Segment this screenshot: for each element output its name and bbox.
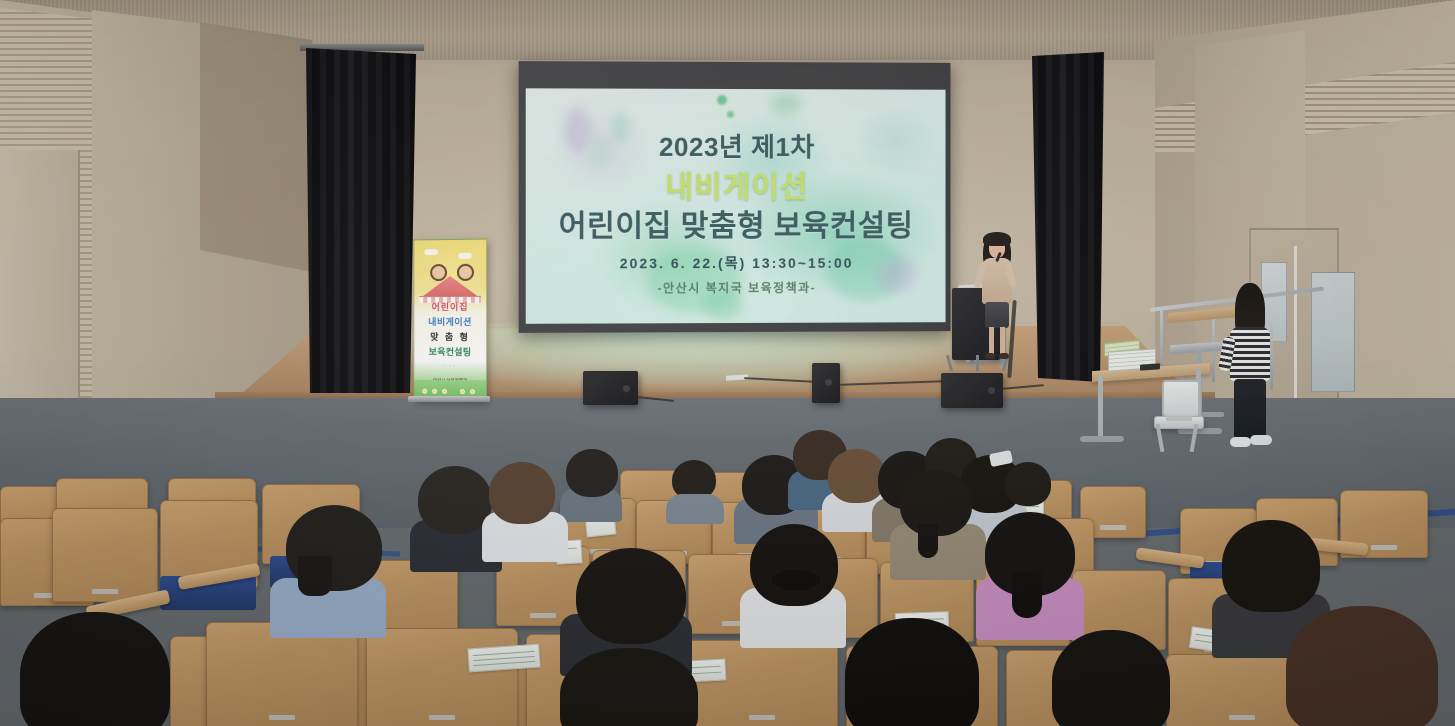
attendee-head-foreground	[1052, 630, 1170, 726]
banner-line-4: 보육컨설팅	[414, 347, 486, 358]
banner-line-1: 어린이집	[414, 302, 486, 312]
seat-empty	[52, 508, 158, 602]
banner-child-icon	[457, 264, 474, 281]
staff-shoe	[1250, 435, 1272, 445]
seat-front-row	[366, 628, 518, 726]
folding-chair	[1152, 380, 1204, 452]
attendee-shoulders	[666, 494, 724, 524]
slide-title-year: 2023년 제1차	[526, 127, 946, 165]
slide-content: 2023년 제1차 내비게이션 어린이집 맞춤형 보육컨설팅 2023. 6. …	[526, 88, 946, 324]
banner-child-icon	[430, 264, 447, 281]
attendee-head	[1222, 520, 1320, 612]
banner-line-3: 맞 춤 형	[414, 332, 486, 343]
left-side-door	[0, 150, 80, 430]
projection-screen-surface: 2023년 제1차 내비게이션 어린이집 맞춤형 보육컨설팅 2023. 6. …	[526, 88, 946, 324]
presenter-hair-front	[983, 232, 1011, 246]
presenter-skirt	[985, 302, 1009, 328]
slide-title-main: 내비게이션	[526, 162, 946, 206]
stage-curtain-right	[1032, 52, 1104, 382]
projection-screen-frame: 2023년 제1차 내비게이션 어린이집 맞춤형 보육컨설팅 2023. 6. …	[519, 61, 951, 333]
staff-shoe	[1230, 437, 1251, 447]
staff-striped-shirt	[1230, 327, 1270, 381]
attendee-head	[489, 462, 555, 524]
stage-speaker-center	[812, 363, 840, 403]
seat-front-row	[686, 640, 838, 726]
slide-datetime: 2023. 6. 22.(목) 13:30~15:00	[526, 253, 946, 274]
stage-curtain-left	[306, 48, 416, 393]
attendee-ponytail	[918, 524, 938, 558]
stage-speaker-right	[941, 373, 1003, 408]
attendee-ponytail	[1012, 572, 1042, 618]
attendee-head	[750, 524, 838, 606]
banner-base-foot	[408, 396, 490, 402]
attendee-head	[576, 548, 686, 644]
attendee-head-foreground	[20, 612, 170, 726]
hair-bow-icon	[778, 570, 814, 590]
banner-cloud-icon	[424, 249, 438, 255]
attendee-head-foreground	[560, 648, 698, 726]
slide-title-sub: 어린이집 맞춤형 보육컨설팅	[526, 201, 946, 245]
staff-pants	[1234, 379, 1266, 441]
banner-cloud-icon	[458, 253, 472, 259]
auditorium-photo: 2023년 제1차 내비게이션 어린이집 맞춤형 보육컨설팅 2023. 6. …	[0, 0, 1455, 726]
attendee-head	[1005, 462, 1051, 506]
attendee-head	[566, 449, 618, 497]
attendee-head	[418, 466, 492, 534]
attendee-ponytail	[298, 556, 332, 596]
staff-member	[1225, 283, 1275, 458]
banner-line-5: · · ·	[414, 364, 486, 369]
printed-handout	[467, 644, 540, 673]
slide-organizer: -안산시 복지국 보육정책과-	[526, 278, 946, 296]
stage-speaker-left	[583, 371, 638, 405]
banner-line-2: 내비게이션	[414, 317, 486, 327]
attendee-head-foreground	[845, 618, 979, 726]
rollup-banner: 어린이집 내비게이션 맞 춤 형 보육컨설팅 · · · 안산시 보육정책과	[413, 239, 487, 402]
attendee-head-foreground	[1286, 606, 1438, 726]
